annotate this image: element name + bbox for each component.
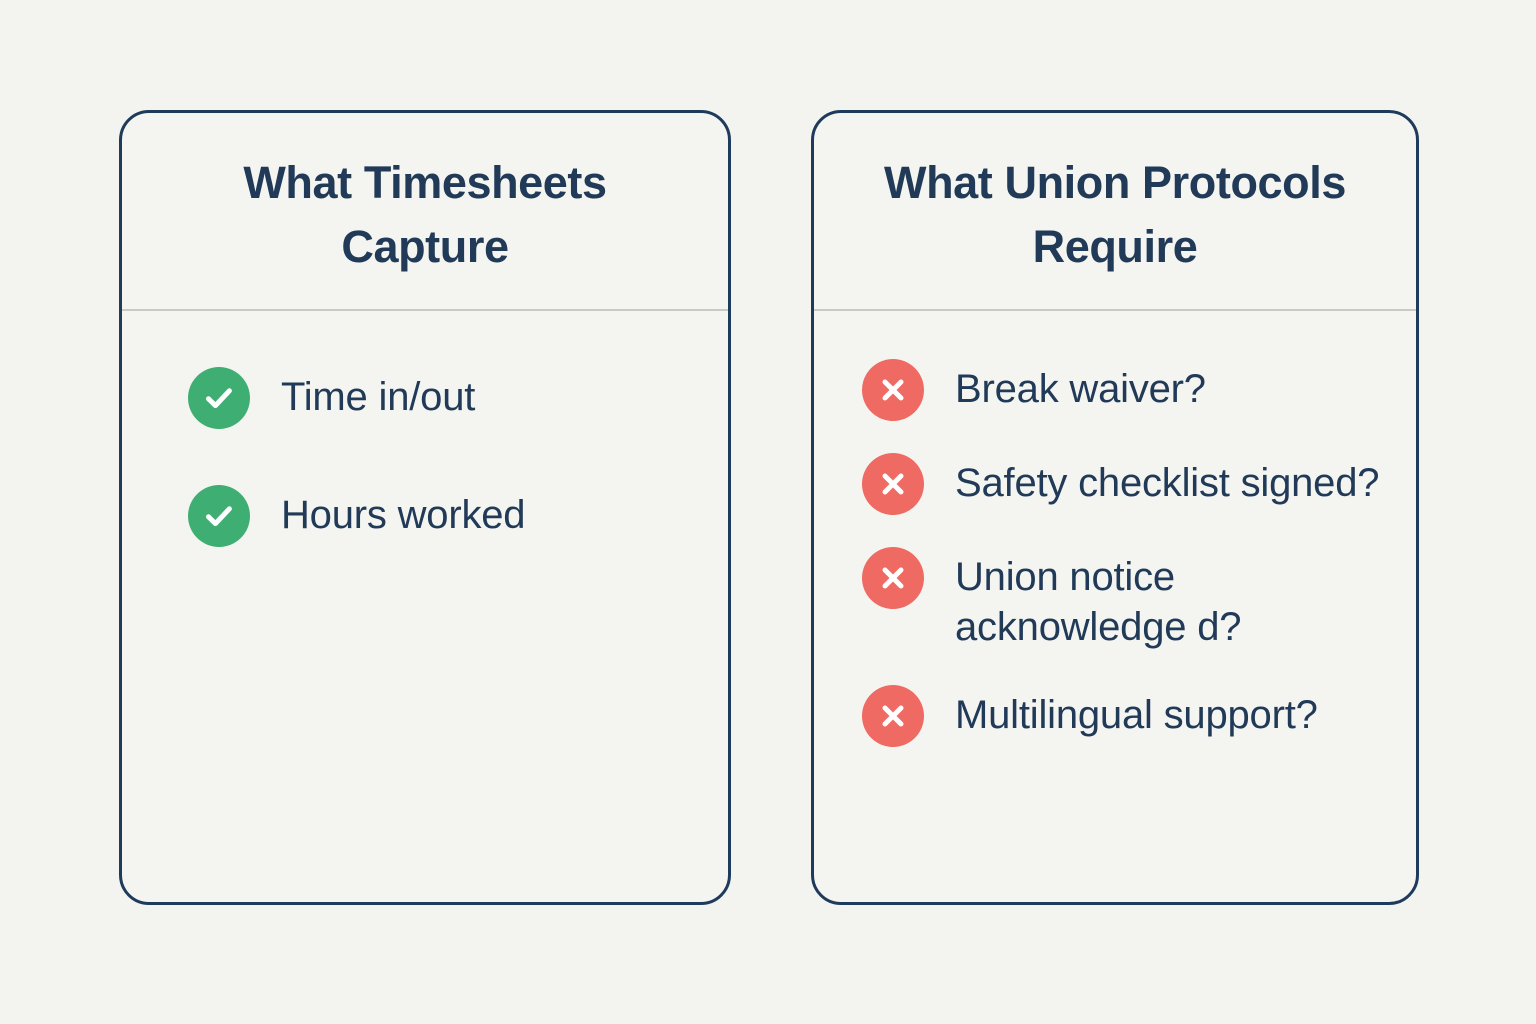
list-item: Hours worked: [188, 483, 698, 547]
list-item-label: Hours worked: [250, 483, 525, 540]
list-item: Union notice acknowledge d?: [862, 545, 1386, 653]
list-item: Safety checklist signed?: [862, 451, 1386, 515]
list-item: Multilingual support?: [862, 683, 1386, 747]
comparison-canvas: What Timesheets Capture Time in/out: [0, 0, 1536, 1024]
card-timesheets: What Timesheets Capture Time in/out: [119, 110, 731, 905]
card-title: What Timesheets Capture: [156, 151, 694, 279]
card-header: What Timesheets Capture: [122, 113, 728, 309]
cross-circle-icon: [862, 685, 924, 747]
cross-circle-icon: [862, 453, 924, 515]
card-header: What Union Protocols Require: [814, 113, 1416, 309]
card-union-protocols: What Union Protocols Require Break waive…: [811, 110, 1419, 905]
check-circle-icon: [188, 367, 250, 429]
union-protocols-item-list: Break waiver? Safety checklist signed?: [862, 357, 1386, 747]
list-item: Break waiver?: [862, 357, 1386, 421]
list-item-label: Time in/out: [250, 365, 475, 422]
card-body: Break waiver? Safety checklist signed?: [814, 311, 1416, 902]
list-item-label: Safety checklist signed?: [924, 451, 1379, 508]
card-body: Time in/out Hours worked: [122, 311, 728, 902]
cross-circle-icon: [862, 359, 924, 421]
timesheets-item-list: Time in/out Hours worked: [188, 365, 698, 547]
list-item-label: Multilingual support?: [924, 683, 1318, 740]
check-circle-icon: [188, 485, 250, 547]
list-item-label: Break waiver?: [924, 357, 1206, 414]
list-item: Time in/out: [188, 365, 698, 429]
cross-circle-icon: [862, 547, 924, 609]
card-title: What Union Protocols Require: [848, 151, 1382, 279]
list-item-label: Union notice acknowledge d?: [924, 545, 1386, 653]
